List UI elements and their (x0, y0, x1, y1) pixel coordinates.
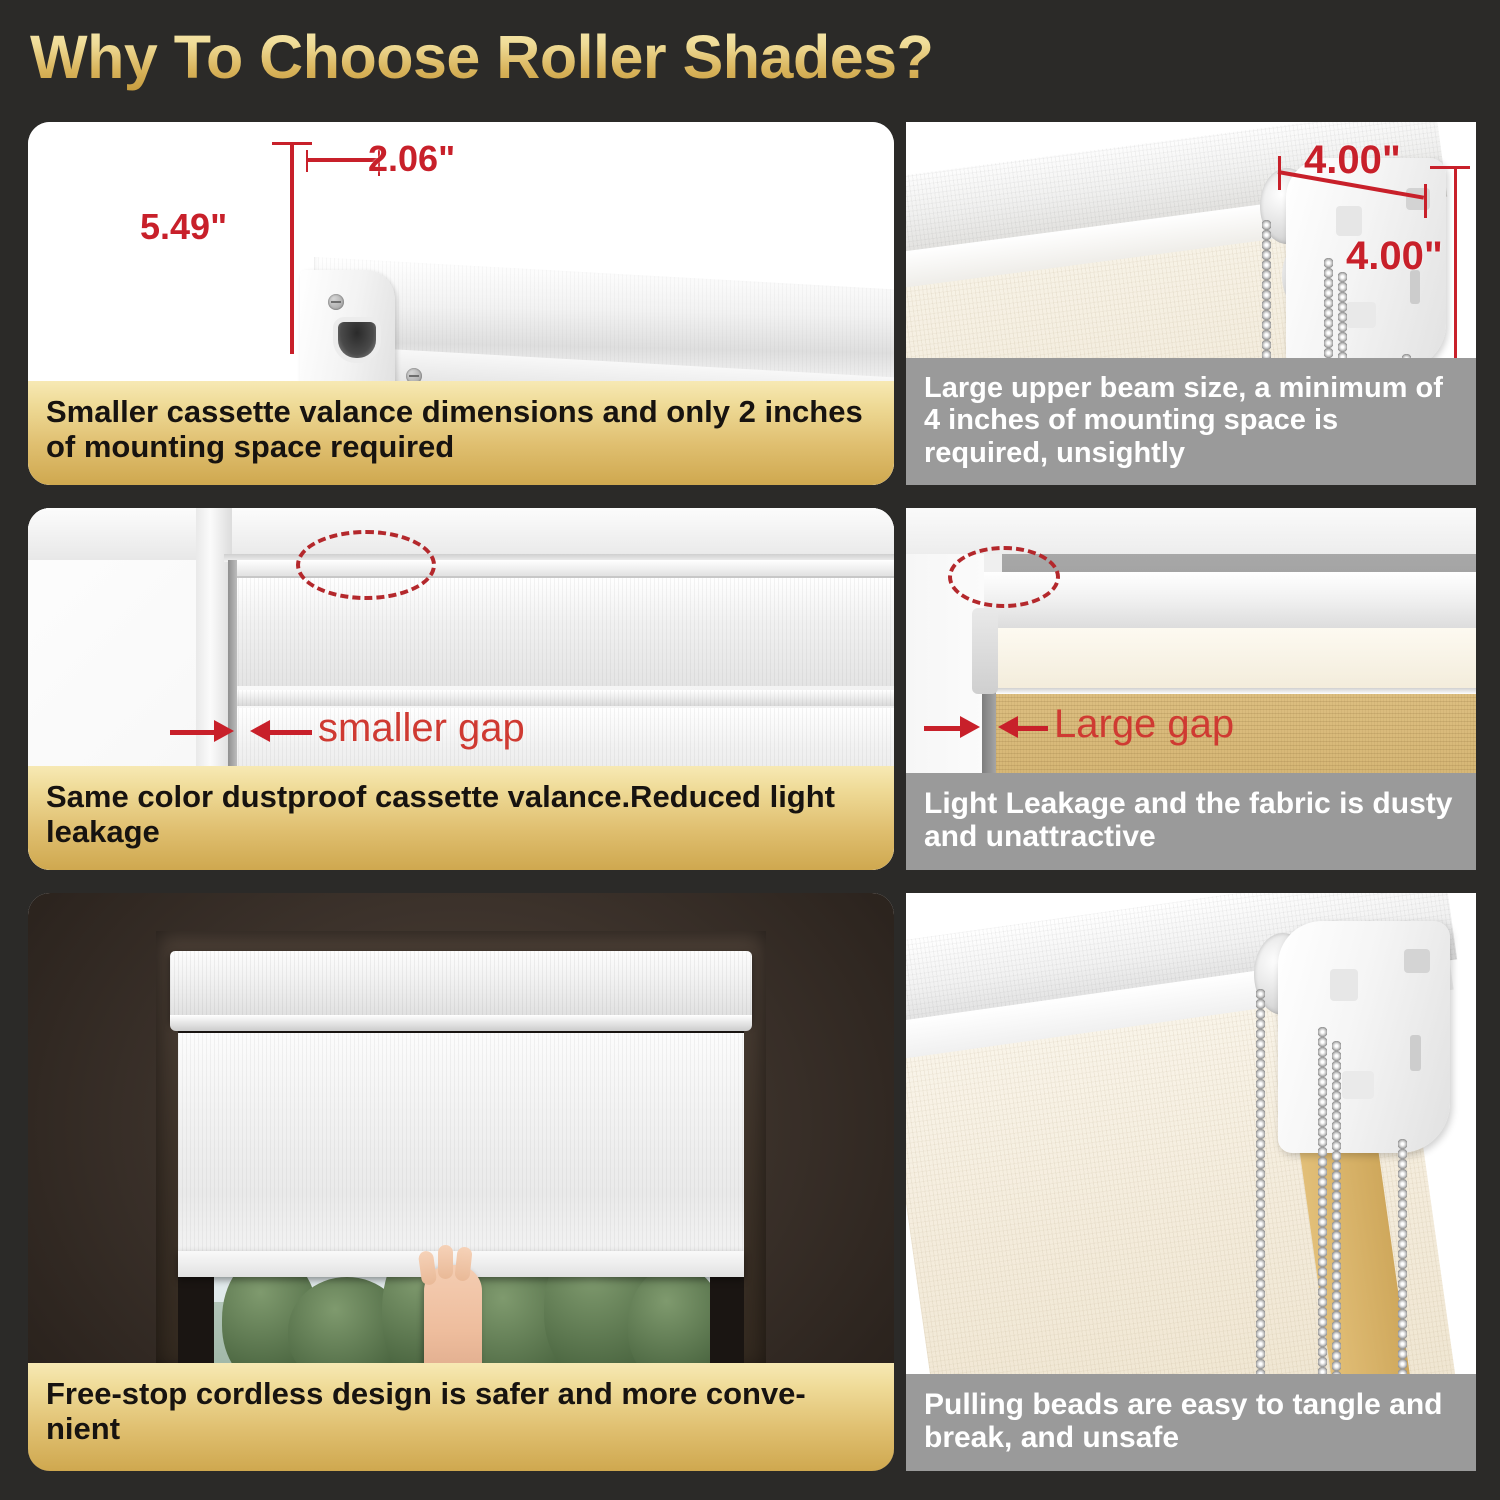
screw-icon (328, 294, 344, 310)
panel-light-leakage: Large gap Light Leakage and the fabric i… (906, 508, 1476, 870)
shade-fabric (178, 1033, 744, 1263)
arrow-left-icon (998, 716, 1018, 738)
panel-smaller-cassette: 2.06" 5.49" Smaller cassette valance dim… (28, 122, 894, 485)
panel-large-beam: 4.00" 4.00" Large upper beam size, a min… (906, 122, 1476, 485)
panel-cordless-design: Free-stop cordless design is safer and m… (28, 893, 894, 1471)
dimension-label-beam-width: 4.00" (1304, 138, 1401, 183)
gap-callout-label: Large gap (1054, 702, 1234, 747)
infographic-page: Why To Choose Roller Shades? 2.06" (0, 0, 1500, 1500)
panel-5-caption: Free-stop cordless design is safer and m… (28, 1363, 894, 1471)
arrow-right-icon (960, 716, 980, 738)
highlight-ellipse (296, 530, 436, 600)
finger (438, 1245, 453, 1279)
panel-4-caption: Light Leakage and the fabric is dusty an… (906, 773, 1476, 870)
bracket-end (972, 608, 998, 694)
panel-3-caption: Same color dustproof cassette valance.Re… (28, 766, 894, 870)
panel-pulling-beads: Pulling beads are easy to tangle and bre… (906, 893, 1476, 1471)
arrow-left-icon (250, 720, 270, 742)
panel-6-caption: Pulling beads are easy to tangle and bre… (906, 1374, 1476, 1471)
panel-grid: 2.06" 5.49" Smaller cassette valance dim… (0, 0, 1500, 1500)
cream-fabric (986, 628, 1476, 690)
dimension-label-height: 5.49" (140, 206, 227, 248)
panel-1-caption: Smaller cassette valance dimensions and … (28, 381, 894, 485)
endcap-slot (338, 322, 376, 358)
panel-2-caption: Large upper beam size, a minimum of 4 in… (906, 358, 1476, 485)
gap-callout-label: smaller gap (318, 706, 525, 751)
dimension-label-beam-height: 4.00" (1346, 234, 1443, 279)
highlight-ellipse (948, 546, 1060, 608)
arrow-right-icon (214, 720, 234, 742)
dimension-label-width: 2.06" (368, 138, 455, 180)
panel-smaller-gap: smaller gap Same color dustproof cassett… (28, 508, 894, 870)
cassette-headrail (170, 951, 752, 1023)
